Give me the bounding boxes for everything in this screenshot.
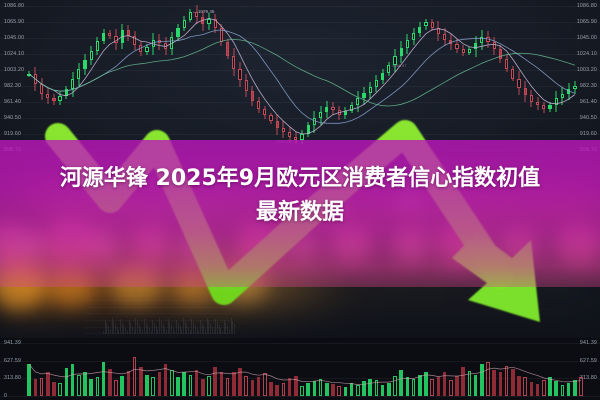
headline-block: 河源华锋 2025年9月欧元区消费者信心指数初值 最新数据 — [0, 162, 600, 230]
headline-line-1: 河源华锋 2025年9月欧元区消费者信心指数初值 — [0, 162, 600, 196]
chart-screenshot: 1086.801065.901045.001024.101003.20982.3… — [0, 0, 600, 400]
headline-line-2: 最新数据 — [0, 196, 600, 230]
